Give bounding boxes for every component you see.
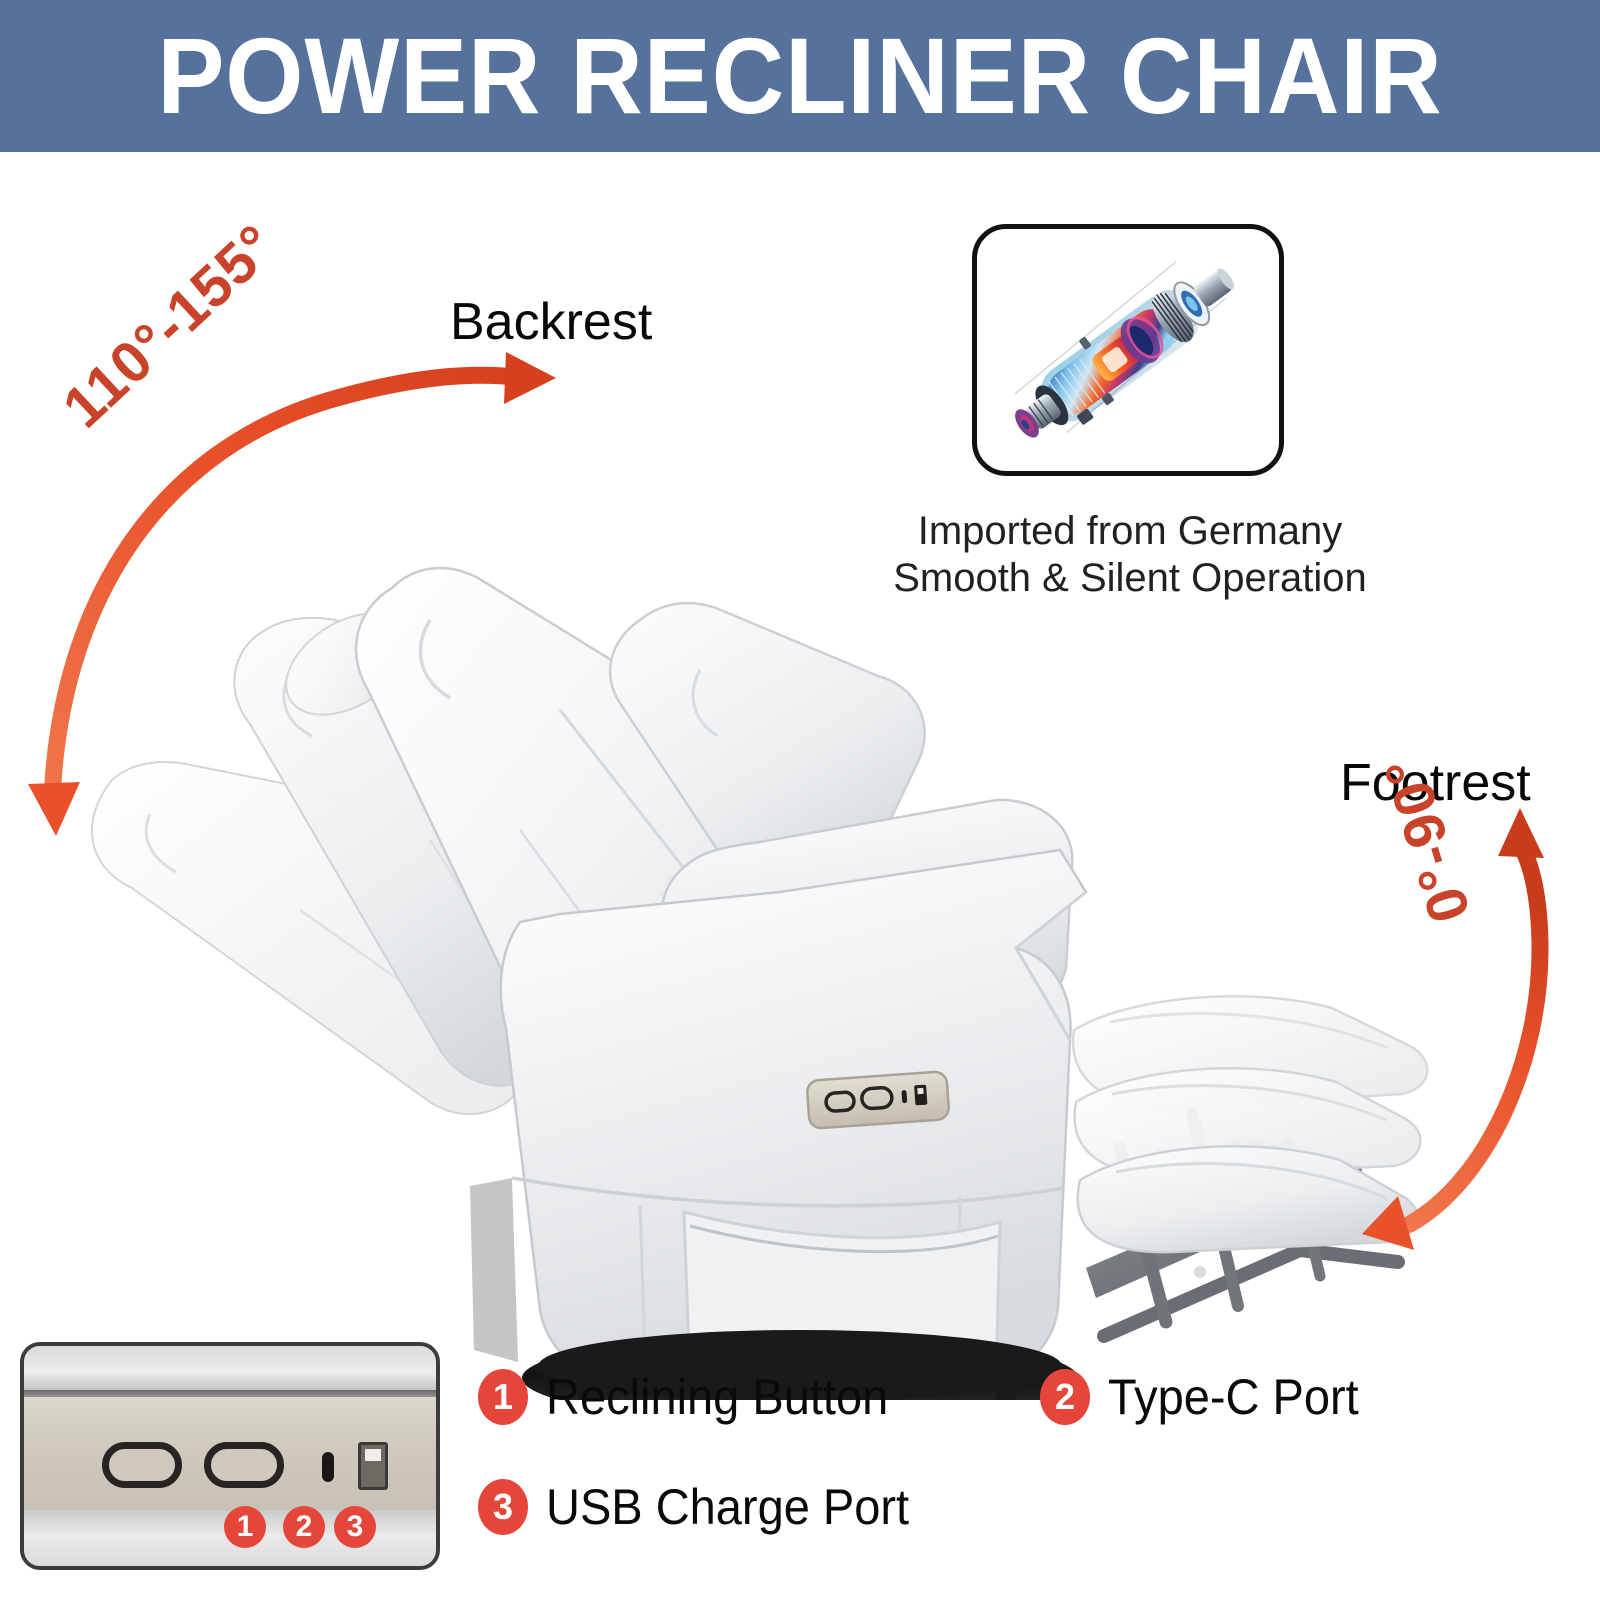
motor-icon [977, 229, 1279, 471]
usb-a-port[interactable] [358, 1442, 388, 1490]
inset-badge-2: 2 [283, 1506, 325, 1548]
inset-badge-1: 1 [224, 1506, 266, 1548]
motor-caption-line-1: Imported from Germany [860, 508, 1400, 555]
motor-caption-line-2: Smooth & Silent Operation [860, 555, 1400, 602]
legend-item-type-c-port: 2 Type-C Port [1040, 1368, 1375, 1426]
motor-caption: Imported from Germany Smooth & Silent Op… [860, 508, 1400, 602]
legend-item-reclining-button: 1 Reclining Button [478, 1368, 910, 1426]
legend-badge-1: 1 [478, 1369, 528, 1425]
inset-badge-3: 3 [334, 1506, 376, 1548]
page-title: POWER RECLINER CHAIR [157, 22, 1442, 130]
motor-card [972, 224, 1284, 476]
body-shadow-wedge [470, 1178, 518, 1362]
header-banner: POWER RECLINER CHAIR [0, 0, 1600, 152]
inset-seam [24, 1390, 436, 1397]
legend-item-usb-charge-port: 3 USB Charge Port [478, 1478, 932, 1536]
legend-label-3: USB Charge Port [546, 1478, 909, 1536]
type-c-port[interactable] [322, 1452, 334, 1482]
legend-badge-2: 2 [1040, 1369, 1090, 1425]
inset-leather-top [24, 1346, 436, 1394]
arm-control-panel [806, 1071, 949, 1129]
reclining-button-right[interactable] [204, 1442, 284, 1488]
legend-label-1: Reclining Button [546, 1368, 888, 1426]
infographic-page: POWER RECLINER CHAIR [0, 0, 1600, 1600]
legend-badge-3: 3 [478, 1479, 528, 1535]
legend-label-2: Type-C Port [1108, 1368, 1359, 1426]
backrest-label: Backrest [450, 292, 652, 352]
control-panel-inset: 1 2 3 [20, 1342, 440, 1570]
reclining-button-left[interactable] [102, 1442, 182, 1488]
